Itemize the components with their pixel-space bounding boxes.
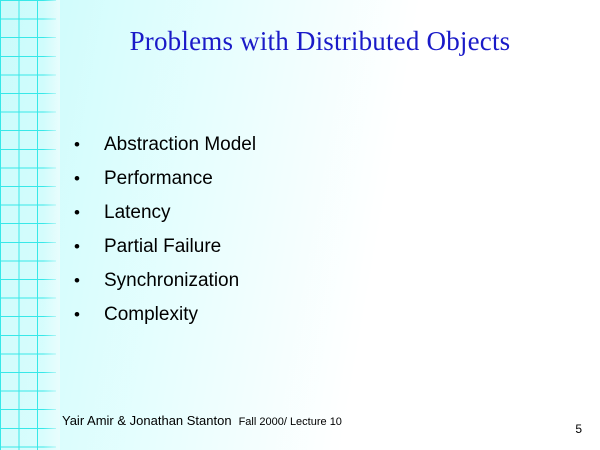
list-item: • Abstraction Model <box>70 132 540 166</box>
list-item-label: Synchronization <box>104 268 239 294</box>
bullet-list: • Abstraction Model • Performance • Late… <box>70 132 540 336</box>
list-item-label: Latency <box>104 200 171 226</box>
slide-canvas: Problems with Distributed Objects • Abst… <box>0 0 600 450</box>
list-item: • Synchronization <box>70 268 540 302</box>
slide-footer: Yair Amir & Jonathan Stanton Fall 2000/ … <box>62 413 342 428</box>
list-item-label: Complexity <box>104 302 198 328</box>
list-item: • Performance <box>70 166 540 200</box>
footer-course-info: Fall 2000/ Lecture 10 <box>239 416 342 428</box>
bullet-point-icon: • <box>70 166 104 192</box>
bullet-point-icon: • <box>70 234 104 260</box>
bullet-point-icon: • <box>70 302 104 328</box>
list-item: • Partial Failure <box>70 234 540 268</box>
footer-authors: Yair Amir & Jonathan Stanton <box>62 413 232 428</box>
decorative-grid-pattern <box>0 0 56 450</box>
list-item-label: Abstraction Model <box>104 132 256 158</box>
bullet-point-icon: • <box>70 200 104 226</box>
list-item: • Complexity <box>70 302 540 336</box>
list-item-label: Performance <box>104 166 213 192</box>
bullet-point-icon: • <box>70 268 104 294</box>
list-item: • Latency <box>70 200 540 234</box>
slide-title: Problems with Distributed Objects <box>60 26 580 57</box>
list-item-label: Partial Failure <box>104 234 221 260</box>
bullet-point-icon: • <box>70 132 104 158</box>
page-number: 5 <box>575 422 582 436</box>
